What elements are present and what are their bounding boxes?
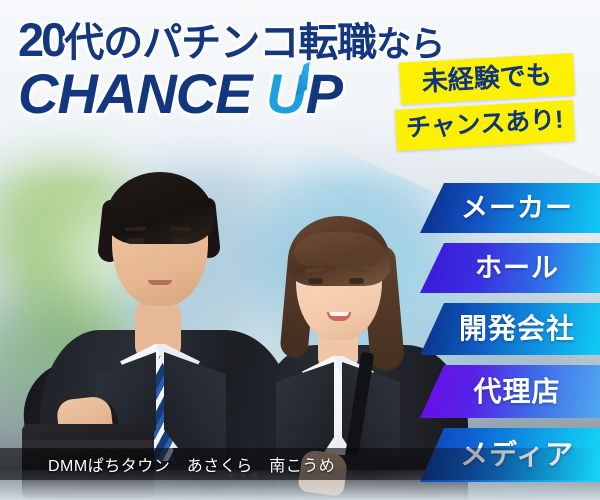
- category-label: 代理店: [459, 378, 560, 406]
- category-item-hall[interactable]: ホール: [420, 243, 600, 293]
- caption-text: DMMぱちタウン あさくら 南こうめ: [0, 452, 335, 476]
- category-label: ホール: [461, 255, 559, 282]
- logo-letter-p: P: [306, 62, 342, 125]
- man-eye: [127, 238, 144, 244]
- category-item-maker[interactable]: メーカー: [420, 183, 600, 233]
- logo-letter-u: U: [266, 65, 305, 124]
- chance-up-logo: CHANCE UP: [18, 65, 444, 124]
- category-label: メーカー: [447, 195, 573, 222]
- woman-eye: [308, 278, 323, 284]
- woman-hair-bangs: [294, 232, 384, 266]
- logo-word-chance: CHANCE: [18, 62, 266, 125]
- headline-primary: 20代のパチンコ転職なら: [18, 16, 444, 63]
- headline-middle: 代のパチンコ転職: [64, 21, 376, 65]
- headline-block: 20代のパチンコ転職なら CHANCE UP: [18, 16, 444, 124]
- caption-bar: DMMぱちタウン あさくら 南こうめ: [0, 448, 600, 480]
- man-eye: [172, 238, 189, 244]
- category-list: メーカー ホール 開発会社 代理店 メディア: [420, 183, 600, 482]
- badge-chance-available: チャンスあり!: [395, 100, 575, 151]
- category-item-development-company[interactable]: 開発会社: [420, 303, 600, 355]
- category-item-agency[interactable]: 代理店: [420, 365, 600, 418]
- promo-banner[interactable]: 20代のパチンコ転職なら CHANCE UP 未経験でも チャンスあり! メーカ…: [0, 0, 600, 500]
- woman-eye: [349, 278, 364, 284]
- man-mouth: [148, 280, 172, 285]
- badge-no-experience: 未経験でも: [399, 53, 575, 105]
- category-label: 開発会社: [445, 315, 575, 343]
- highlight-badges: 未経験でも チャンスあり!: [400, 58, 574, 146]
- woman-teeth: [329, 312, 349, 316]
- headline-number: 20: [18, 13, 64, 66]
